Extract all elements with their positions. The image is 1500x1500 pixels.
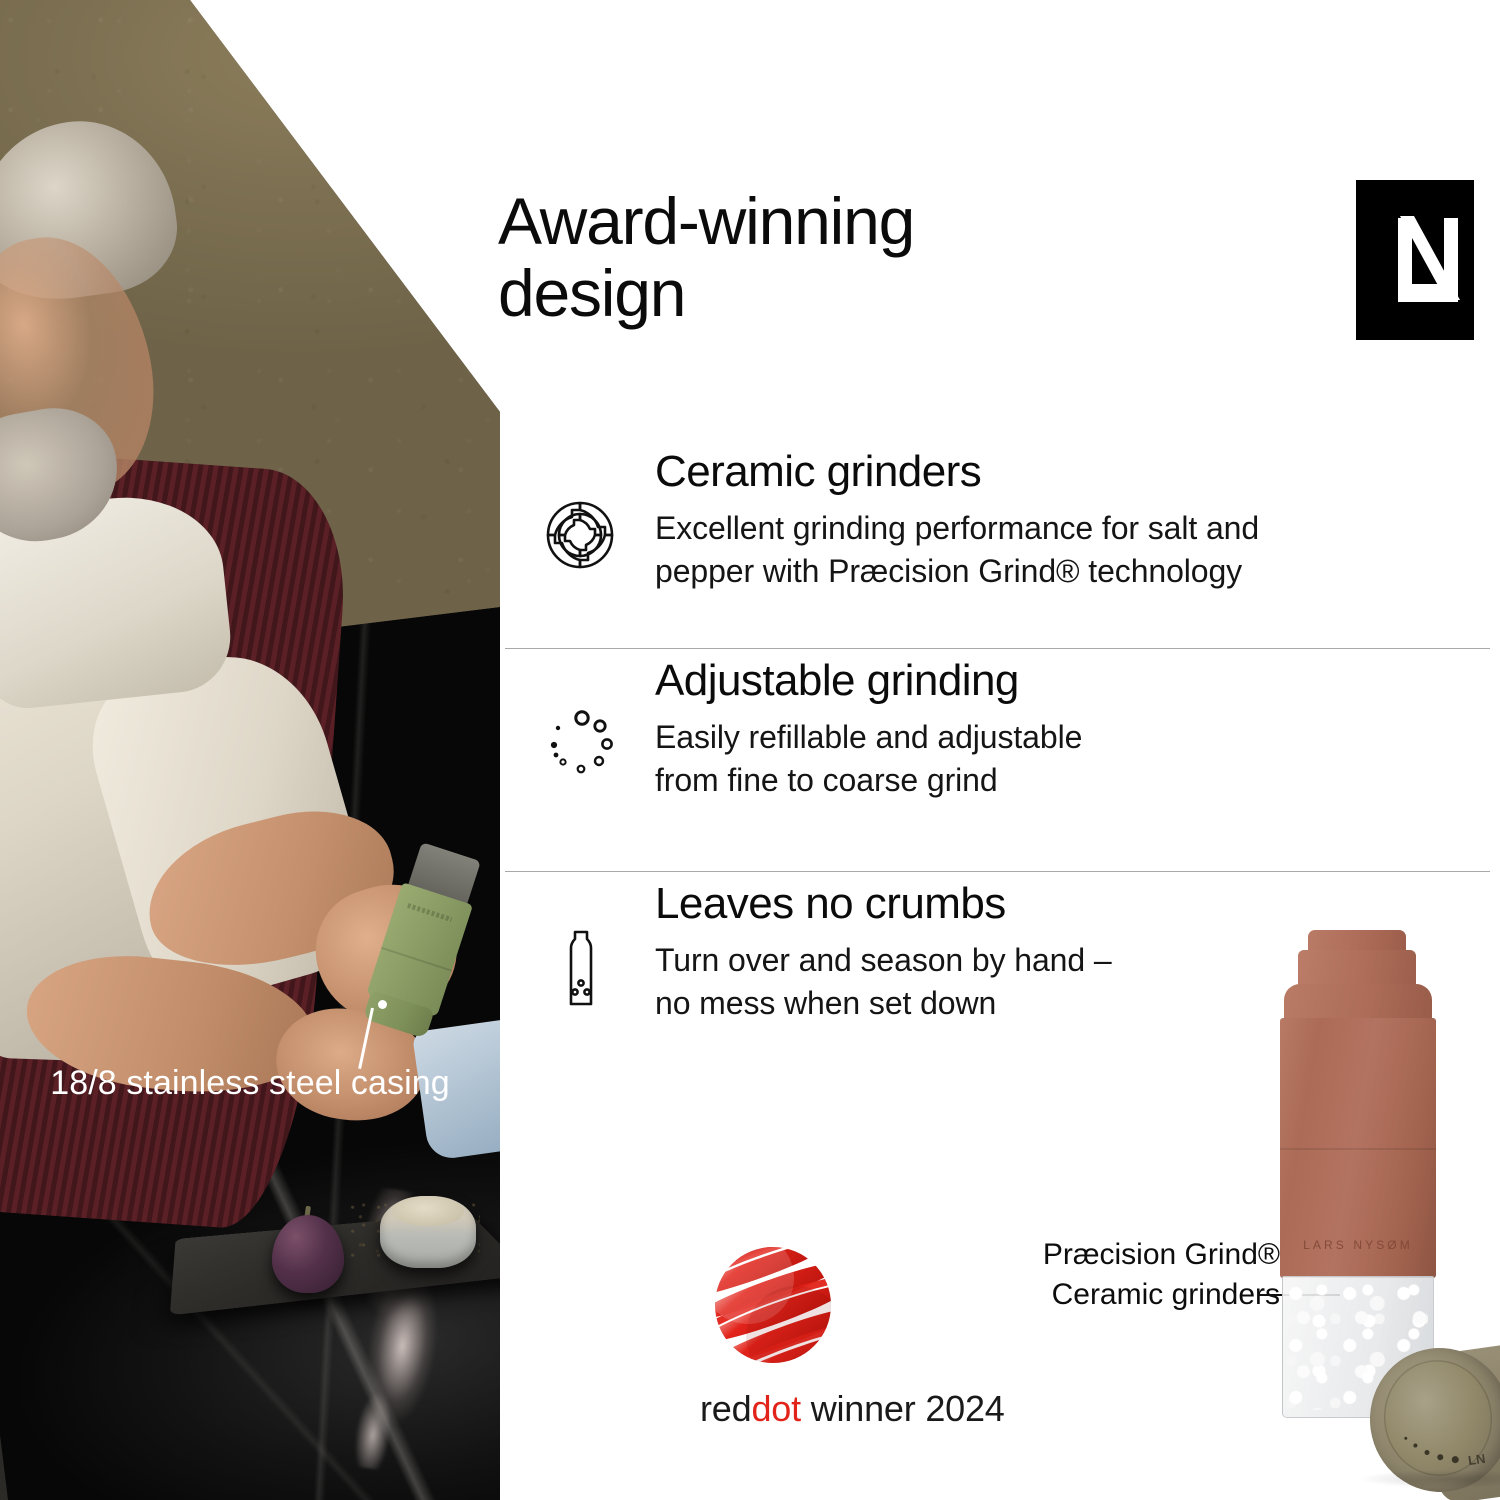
product-photo: LARS NYSØM LN: [1240, 900, 1500, 1500]
lifestyle-photo: 18/8 stainless steel casing: [0, 0, 500, 1500]
product-callout-label: Præcision Grind® Ceramic grinders: [960, 1235, 1280, 1315]
lars-nysom-logo: [1356, 180, 1474, 340]
feature-body: Adjustable grinding Easily refillable an…: [655, 649, 1082, 801]
reddot-red-text: red: [700, 1388, 751, 1429]
feature-title: Leaves no crumbs: [655, 878, 1112, 929]
steel-casing-leader-dot: [378, 1000, 387, 1009]
infographic-stage: 18/8 stainless steel casing Award-winnin…: [0, 0, 1500, 1500]
reddot-sphere-logo: [708, 1240, 838, 1370]
steel-casing-caption: 18/8 stainless steel casing: [0, 1062, 500, 1106]
reddot-winner-text: winner 2024: [801, 1388, 1005, 1429]
feature-ceramic-grinders: Ceramic grinders Excellent grinding perf…: [505, 440, 1490, 648]
grind-particles-icon: [505, 649, 655, 783]
cheese-top-surface: [392, 1196, 464, 1226]
terracotta-grinder-seam: [1280, 1148, 1436, 1150]
feature-description: Excellent grinding performance for salt …: [655, 507, 1259, 592]
feature-body: Leaves no crumbs Turn over and season by…: [655, 872, 1112, 1024]
page-title: Award-winning design: [498, 186, 1138, 330]
olive-grinder-ln-mark: LN: [1467, 1451, 1486, 1468]
grinder-bottle-icon: [505, 872, 655, 1006]
product-shadow: [1360, 1470, 1500, 1488]
feature-title: Adjustable grinding: [655, 655, 1082, 706]
feature-description: Turn over and season by hand – no mess w…: [655, 939, 1112, 1024]
product-brand-text: LARS NYSØM: [1280, 1238, 1436, 1252]
feature-title: Ceramic grinders: [655, 446, 1259, 497]
terracotta-grinder-neck: [1298, 950, 1416, 988]
feature-description: Easily refillable and adjustable from fi…: [655, 716, 1082, 801]
ceramic-burr-icon: [505, 440, 655, 574]
feature-body: Ceramic grinders Excellent grinding perf…: [655, 440, 1259, 592]
reddot-dot-text: dot: [751, 1388, 800, 1429]
reddot-award-label: reddot winner 2024: [700, 1388, 1060, 1430]
grinder-brand-mark: [407, 903, 452, 922]
feature-adjustable-grinding: Adjustable grinding Easily refillable an…: [505, 649, 1490, 871]
